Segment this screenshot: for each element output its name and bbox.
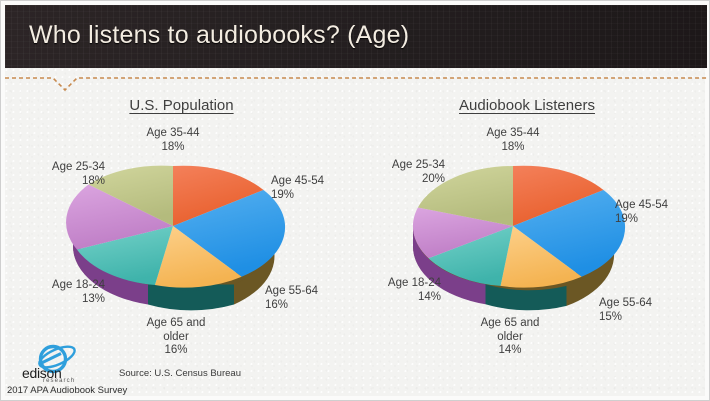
pie-left-label-18-24: Age 18-24 13%: [1, 279, 105, 306]
label-age-45-54-text: Age 45-54: [615, 199, 668, 211]
label-age-45-54-text: Age 45-54: [271, 175, 324, 187]
label-age-45-54-value: 19%: [271, 189, 294, 201]
label-age-18-24-text: Age 18-24: [52, 279, 105, 291]
pie-left-label-65-older: Age 65 and older 16%: [121, 317, 231, 358]
pie-right-label-45-54: Age 45-54 19%: [615, 199, 703, 226]
slide-header-bar: Who listens to audiobooks? (Age): [5, 5, 707, 68]
label-age-35-44-text: Age 35-44: [486, 127, 539, 139]
pie-left-label-25-34: Age 25-34 18%: [1, 161, 105, 188]
pie-left-label-35-44: Age 35-44 18%: [111, 127, 235, 154]
logo-subtext: research: [43, 378, 75, 384]
label-age-55-64-value: 15%: [599, 311, 622, 323]
page-title: Who listens to audiobooks? (Age): [29, 21, 409, 50]
label-age-65-line2: older: [163, 331, 189, 343]
label-age-25-34-value: 20%: [422, 173, 445, 185]
pie-right-label-25-34: Age 25-34 20%: [341, 159, 445, 186]
label-age-55-64-text: Age 55-64: [265, 285, 318, 297]
label-age-55-64-text: Age 55-64: [599, 297, 652, 309]
pie-right-label-65-older: Age 65 and older 14%: [455, 317, 565, 358]
chart-audiobook-listeners: Audiobook Listeners: [351, 89, 703, 389]
pie-right-label-18-24: Age 18-24 14%: [339, 277, 441, 304]
label-age-18-24-value: 14%: [418, 291, 441, 303]
label-age-25-34-value: 18%: [82, 175, 105, 187]
source-note: Source: U.S. Census Bureau: [119, 368, 241, 379]
label-age-25-34-text: Age 25-34: [392, 159, 445, 171]
label-age-35-44-text: Age 35-44: [146, 127, 199, 139]
footer-survey-note: 2017 APA Audiobook Survey: [7, 385, 127, 396]
label-age-65-line1: Age 65 and: [481, 317, 540, 329]
label-age-65-line2: older: [497, 331, 523, 343]
pie-right-label-55-64: Age 55-64 15%: [599, 297, 695, 324]
label-age-25-34-text: Age 25-34: [52, 161, 105, 173]
label-age-35-44-value: 18%: [161, 141, 184, 153]
label-age-65-line1: Age 65 and: [147, 317, 206, 329]
label-age-18-24-text: Age 18-24: [388, 277, 441, 289]
pie-right-label-35-44: Age 35-44 18%: [451, 127, 575, 154]
label-age-65-value: 16%: [164, 344, 187, 356]
label-age-65-value: 14%: [498, 344, 521, 356]
label-age-45-54-value: 19%: [615, 213, 638, 225]
slide-root: Who listens to audiobooks? (Age) U.S. Po…: [0, 0, 710, 401]
label-age-35-44-value: 18%: [501, 141, 524, 153]
label-age-18-24-value: 13%: [82, 293, 105, 305]
label-age-55-64-value: 16%: [265, 299, 288, 311]
